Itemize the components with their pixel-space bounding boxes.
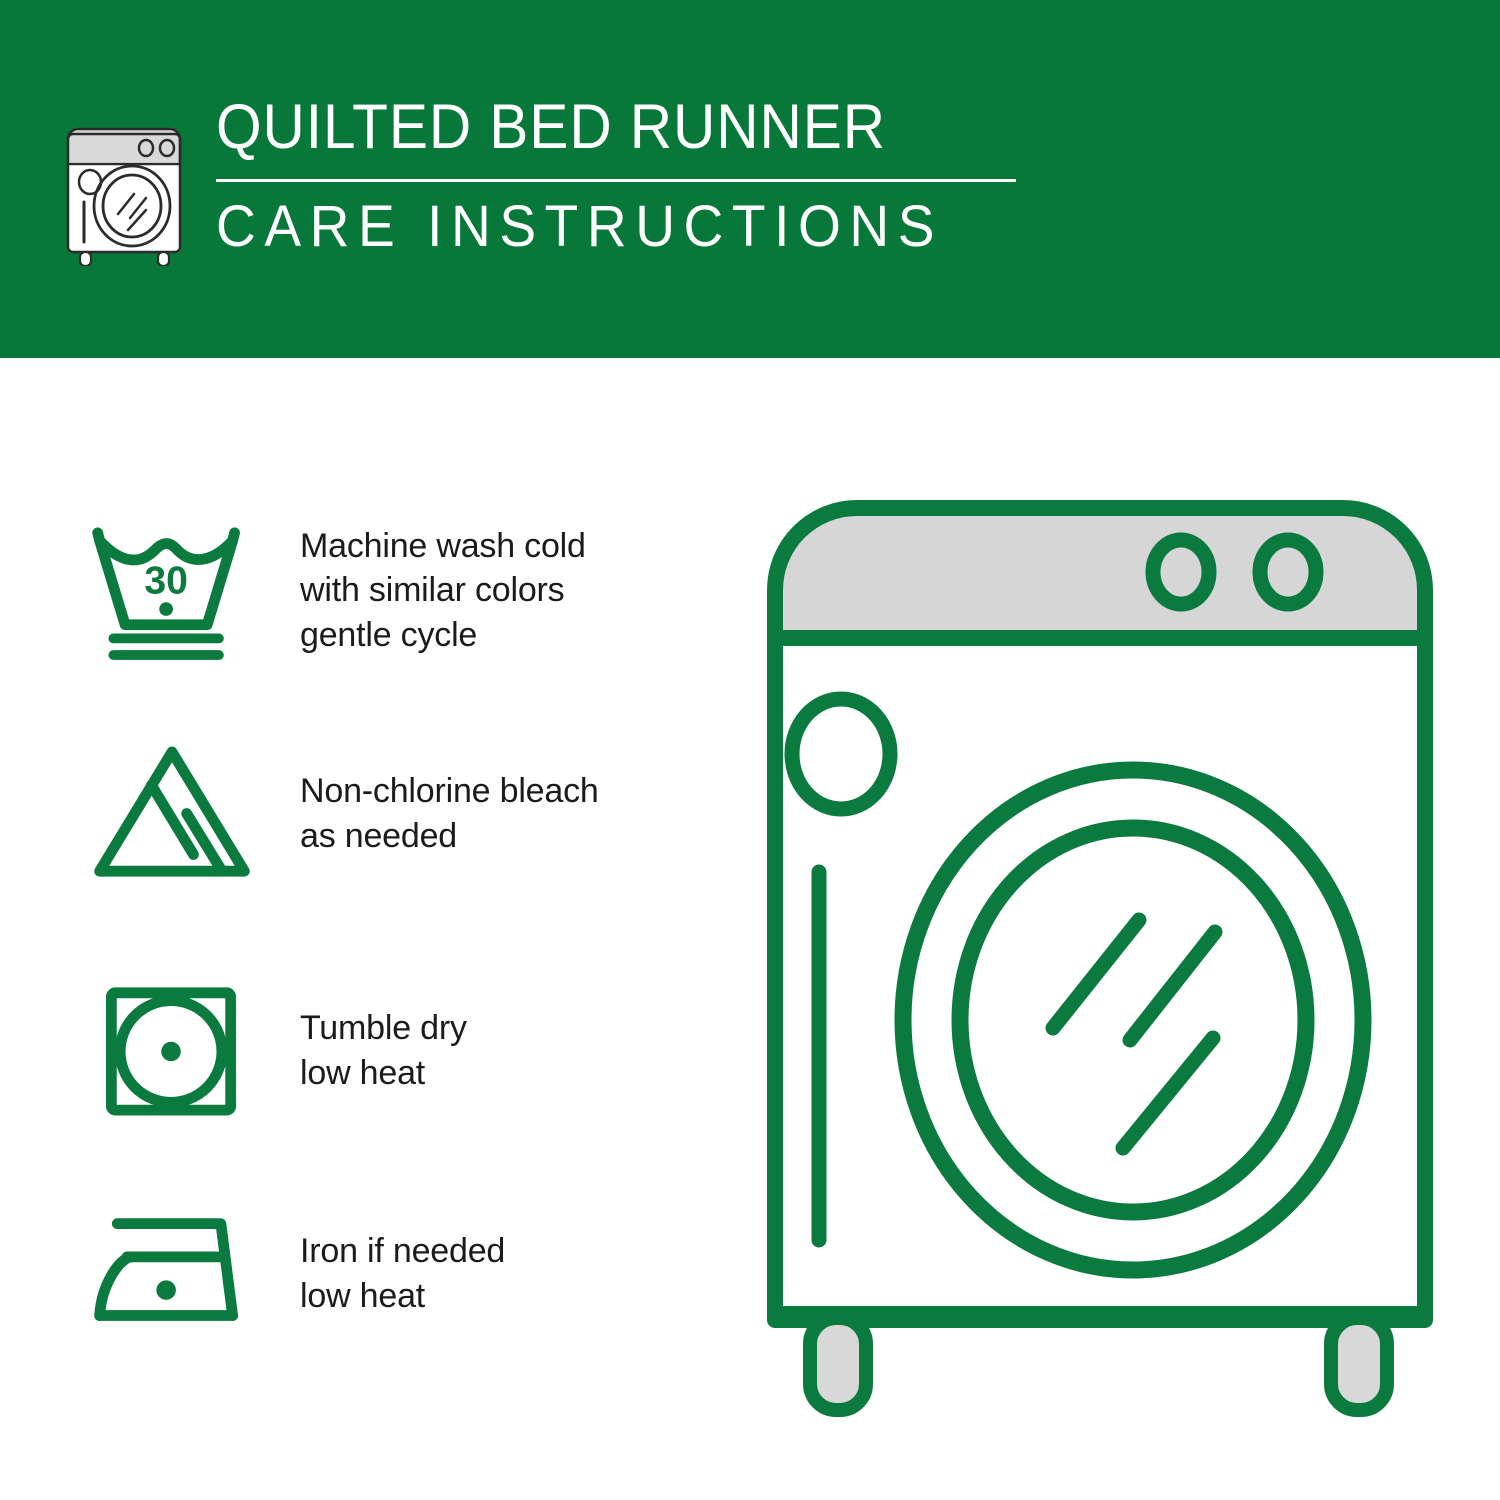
- care-item-iron: Iron if needed low heat: [0, 1186, 700, 1361]
- care-label-line: with similar colors: [300, 568, 586, 612]
- page-subtitle: CARE INSTRUCTIONS: [216, 198, 1005, 256]
- washer-control-panel: [775, 508, 1425, 638]
- care-item-label: Tumble dry low heat: [300, 1006, 467, 1094]
- care-item-label: Non-chlorine bleach as needed: [300, 769, 599, 857]
- header-banner: QUILTED BED RUNNER CARE INSTRUCTIONS: [0, 0, 1500, 358]
- iron-low-heat-icon: [72, 1200, 272, 1347]
- title-divider: [216, 179, 1016, 182]
- care-label-line: Tumble dry: [300, 1006, 467, 1050]
- care-label-line: Machine wash cold: [300, 524, 586, 568]
- page-title: QUILTED BED RUNNER: [216, 96, 988, 159]
- care-item-bleach: Non-chlorine bleach as needed: [0, 726, 700, 901]
- care-item-tumble-dry: Tumble dry low heat: [0, 958, 700, 1143]
- care-label-line: as needed: [300, 814, 599, 858]
- washer-leg-left: [810, 1318, 866, 1410]
- care-label-line: gentle cycle: [300, 613, 586, 657]
- washing-machine-icon: [60, 106, 192, 266]
- wash-temperature-value: 30: [144, 559, 188, 602]
- care-label-line: Iron if needed: [300, 1229, 505, 1273]
- care-label-line: low heat: [300, 1051, 467, 1095]
- wash-tub-30-gentle-icon: 30: [72, 517, 272, 664]
- washing-machine-illustration: [735, 480, 1465, 1440]
- panel-divider: [775, 630, 1425, 646]
- care-item-machine-wash: 30 Machine wash cold with similar colors…: [0, 498, 700, 683]
- tumble-dry-low-heat-icon: [72, 977, 272, 1124]
- header-text-block: QUILTED BED RUNNER CARE INSTRUCTIONS: [216, 96, 1046, 256]
- care-label-line: Non-chlorine bleach: [300, 769, 599, 813]
- care-instruction-list: 30 Machine wash cold with similar colors…: [0, 358, 700, 1500]
- care-label-line: low heat: [300, 1274, 505, 1318]
- washer-base-bar: [775, 1306, 1425, 1322]
- care-item-label: Iron if needed low heat: [300, 1229, 505, 1317]
- care-item-label: Machine wash cold with similar colors ge…: [300, 524, 586, 657]
- care-instructions-page: QUILTED BED RUNNER CARE INSTRUCTIONS: [0, 0, 1500, 1500]
- non-chlorine-bleach-triangle-icon: [72, 740, 272, 887]
- washer-leg-right: [1331, 1318, 1387, 1410]
